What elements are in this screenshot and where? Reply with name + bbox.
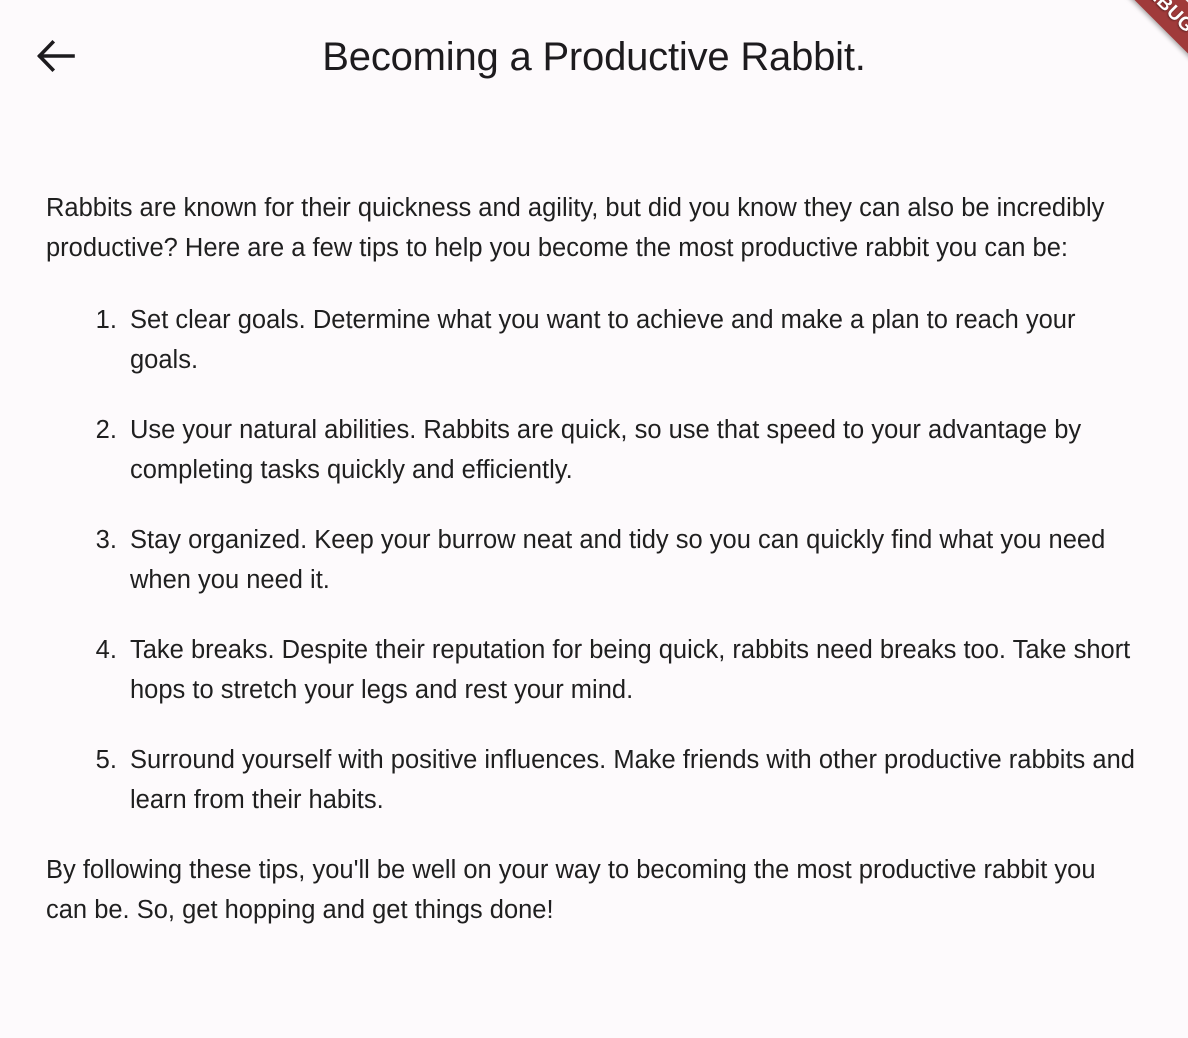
list-item: Set clear goals. Determine what you want… — [124, 300, 1142, 380]
arrow-left-icon — [35, 39, 75, 73]
intro-paragraph: Rabbits are known for their quickness an… — [46, 188, 1142, 268]
list-item: Take breaks. Despite their reputation fo… — [124, 630, 1142, 710]
list-item: Use your natural abilities. Rabbits are … — [124, 410, 1142, 490]
tips-list: Set clear goals. Determine what you want… — [46, 300, 1142, 820]
app-bar: Becoming a Productive Rabbit. DEBUG — [0, 0, 1188, 110]
page-title: Becoming a Productive Rabbit. — [0, 33, 1188, 77]
article-content: Rabbits are known for their quickness an… — [0, 110, 1188, 930]
list-item: Stay organized. Keep your burrow neat an… — [124, 520, 1142, 600]
back-button[interactable] — [26, 30, 84, 82]
list-item: Surround yourself with positive influenc… — [124, 740, 1142, 820]
closing-paragraph: By following these tips, you'll be well … — [46, 850, 1142, 930]
